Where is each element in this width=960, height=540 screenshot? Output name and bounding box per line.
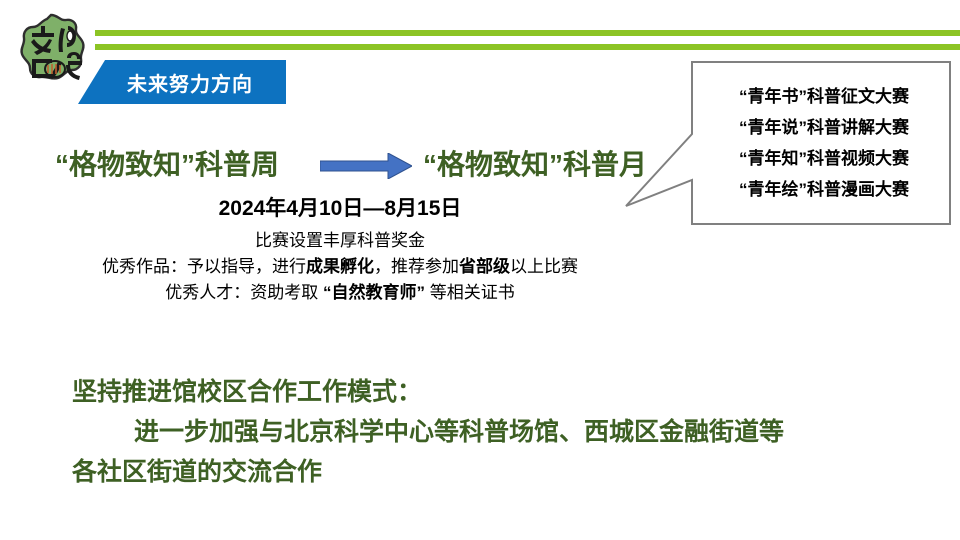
body-line-2: 优秀作品：予以指导，进行成果孵化，推荐参加省部级以上比赛	[0, 254, 680, 280]
body-line-2-bold-1: 成果孵化	[306, 257, 374, 276]
slide-canvas: 未来努力方向 “格物致知”科普周 “格物致知”科普月 2024年4月10日—8月…	[0, 0, 960, 540]
body-line-1-prefix: 比赛设置丰厚科普奖金	[255, 231, 425, 250]
body-line-3-middle: 等相关证书	[425, 283, 515, 302]
body-line-2-prefix: 优秀作品：予以指导，进行	[102, 257, 306, 276]
body-line-3-prefix: 优秀人才：资助考取	[165, 283, 323, 302]
right-arrow-icon	[320, 153, 412, 179]
green-rule-top	[95, 30, 960, 36]
body-line-3: 优秀人才：资助考取 “自然教育师” 等相关证书	[0, 280, 680, 306]
callout-line-3: “青年知”科普视频大赛	[700, 145, 948, 173]
body-line-2-suffix: 以上比赛	[510, 257, 578, 276]
organization-logo	[10, 6, 92, 90]
body-line-1: 比赛设置丰厚科普奖金	[0, 228, 680, 254]
headline-row: “格物致知”科普周 “格物致知”科普月	[55, 142, 675, 188]
body-line-3-bold-1: “自然教育师”	[323, 283, 425, 302]
section-banner: 未来努力方向	[78, 60, 286, 104]
callout-line-2: “青年说”科普讲解大赛	[700, 114, 948, 142]
body-paragraph: 比赛设置丰厚科普奖金 优秀作品：予以指导，进行成果孵化，推荐参加省部级以上比赛 …	[0, 228, 680, 306]
green-rule-bottom	[95, 44, 960, 50]
headline-right-text: “格物致知”科普月	[423, 142, 647, 188]
competitions-callout: “青年书”科普征文大赛 “青年说”科普讲解大赛 “青年知”科普视频大赛 “青年绘…	[624, 58, 954, 228]
closing-line-2: 进一步加强与北京科学中心等科普场馆、西城区金融街道等	[72, 412, 902, 452]
section-banner-label: 未来努力方向	[111, 68, 253, 97]
body-line-2-bold-2: 省部级	[459, 257, 510, 276]
body-line-2-middle: ，推荐参加	[374, 257, 459, 276]
event-date: 2024年4月10日—8月15日	[0, 192, 680, 222]
callout-line-4: “青年绘”科普漫画大赛	[700, 176, 948, 204]
callout-line-1: “青年书”科普征文大赛	[700, 83, 948, 111]
headline-left-text: “格物致知”科普周	[55, 142, 279, 188]
closing-line-3: 各社区街道的交流合作	[72, 452, 902, 492]
closing-paragraph: 坚持推进馆校区合作工作模式： 进一步加强与北京科学中心等科普场馆、西城区金融街道…	[72, 372, 902, 492]
closing-line-1: 坚持推进馆校区合作工作模式：	[72, 372, 902, 412]
callout-text-list: “青年书”科普征文大赛 “青年说”科普讲解大赛 “青年知”科普视频大赛 “青年绘…	[700, 68, 948, 218]
